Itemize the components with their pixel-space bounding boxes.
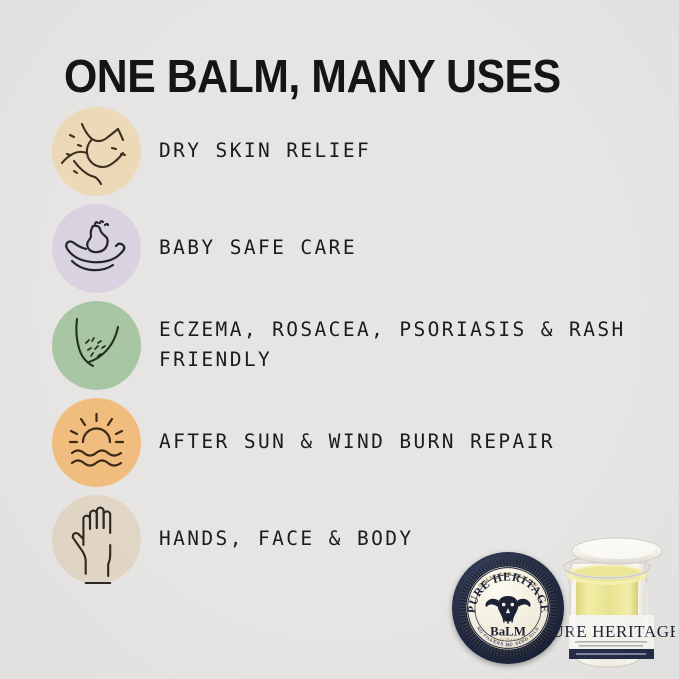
list-item-eczema-rosacea-psoriasis-rash: ECZEMA, ROSACEA, PSORIASIS & RASH FRIEND…: [0, 297, 679, 394]
product-photo-group: PURE HERITAGE: [447, 527, 679, 679]
tin-size: 2oz: [505, 644, 511, 648]
product-open-jar: PURE HERITAGE: [545, 529, 675, 679]
benefit-label: DRY SKIN RELIEF: [159, 136, 371, 166]
cracked-skin-icon: [52, 107, 141, 196]
list-item-after-sun-wind-burn-repair: AFTER SUN & WIND BURN REPAIR: [0, 394, 679, 491]
benefits-list: DRY SKIN RELIEF: [0, 103, 679, 588]
product-tin: GRASS-FED TALLOW NO FILLERS NO SEED OILS…: [452, 552, 564, 664]
open-hand-icon: [52, 495, 141, 584]
hand-holding-baby-foot-icon: [52, 204, 141, 293]
irritated-skin-icon: [52, 301, 141, 390]
list-item-baby-safe-care: BABY SAFE CARE: [0, 200, 679, 297]
page-title: ONE BALM, MANY USES: [64, 51, 561, 101]
tin-product-name: BaLM: [490, 625, 526, 639]
bison-skull-emblem: [485, 596, 530, 624]
sun-over-waves-icon: [52, 398, 141, 487]
jar-brand-text: PURE HERITAGE: [545, 622, 675, 641]
benefit-label: ECZEMA, ROSACEA, PSORIASIS & RASH FRIEND…: [159, 315, 626, 375]
benefit-label: AFTER SUN & WIND BURN REPAIR: [159, 427, 555, 457]
tin-label-face: GRASS-FED TALLOW NO FILLERS NO SEED OILS…: [465, 565, 551, 651]
benefit-label: BABY SAFE CARE: [159, 233, 357, 263]
benefit-label: HANDS, FACE & BODY: [159, 524, 414, 554]
infographic-canvas: ONE BALM, MANY USES: [0, 0, 679, 679]
tin-subtitle: HANDCRAFTED: [490, 638, 527, 642]
list-item-dry-skin-relief: DRY SKIN RELIEF: [0, 103, 679, 200]
